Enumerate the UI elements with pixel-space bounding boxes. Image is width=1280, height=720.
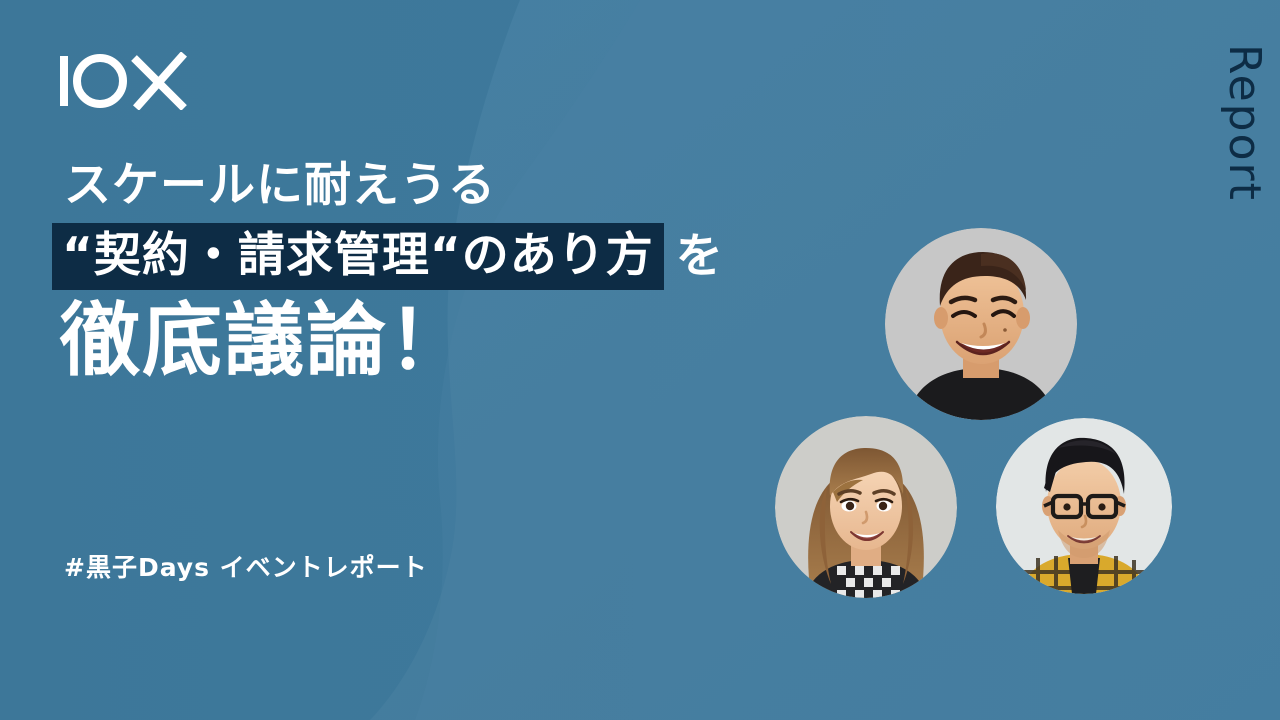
report-cover-slide: Report スケールに耐えうる “契約・請求管理“のあり方 を 徹底議論！ #… [0, 0, 1280, 720]
headline-line-2: “契約・請求管理“のあり方 を [52, 223, 812, 290]
headline-line-3: 徹底議論！ [52, 296, 812, 386]
avatar-photo-icon [775, 416, 957, 598]
speaker-avatar-bottom-left [775, 416, 957, 598]
avatar-photo-icon [885, 228, 1077, 420]
brand-logo-10x[interactable] [58, 52, 190, 110]
event-tagline: #黒子Days イベントレポート [64, 548, 428, 584]
headline-highlighted-phrase: “契約・請求管理“のあり方 [52, 223, 664, 290]
headline-line-2-suffix: を [664, 233, 724, 280]
avatar-photo-icon [996, 418, 1172, 594]
logo-icon [58, 52, 190, 110]
headline-block: スケールに耐えうる “契約・請求管理“のあり方 を 徹底議論！ [52, 160, 812, 385]
report-vertical-label: Report [1222, 44, 1266, 202]
speaker-avatar-bottom-right [996, 418, 1172, 594]
headline-line-1: スケールに耐えうる [52, 160, 812, 213]
speaker-avatar-top [885, 228, 1077, 420]
